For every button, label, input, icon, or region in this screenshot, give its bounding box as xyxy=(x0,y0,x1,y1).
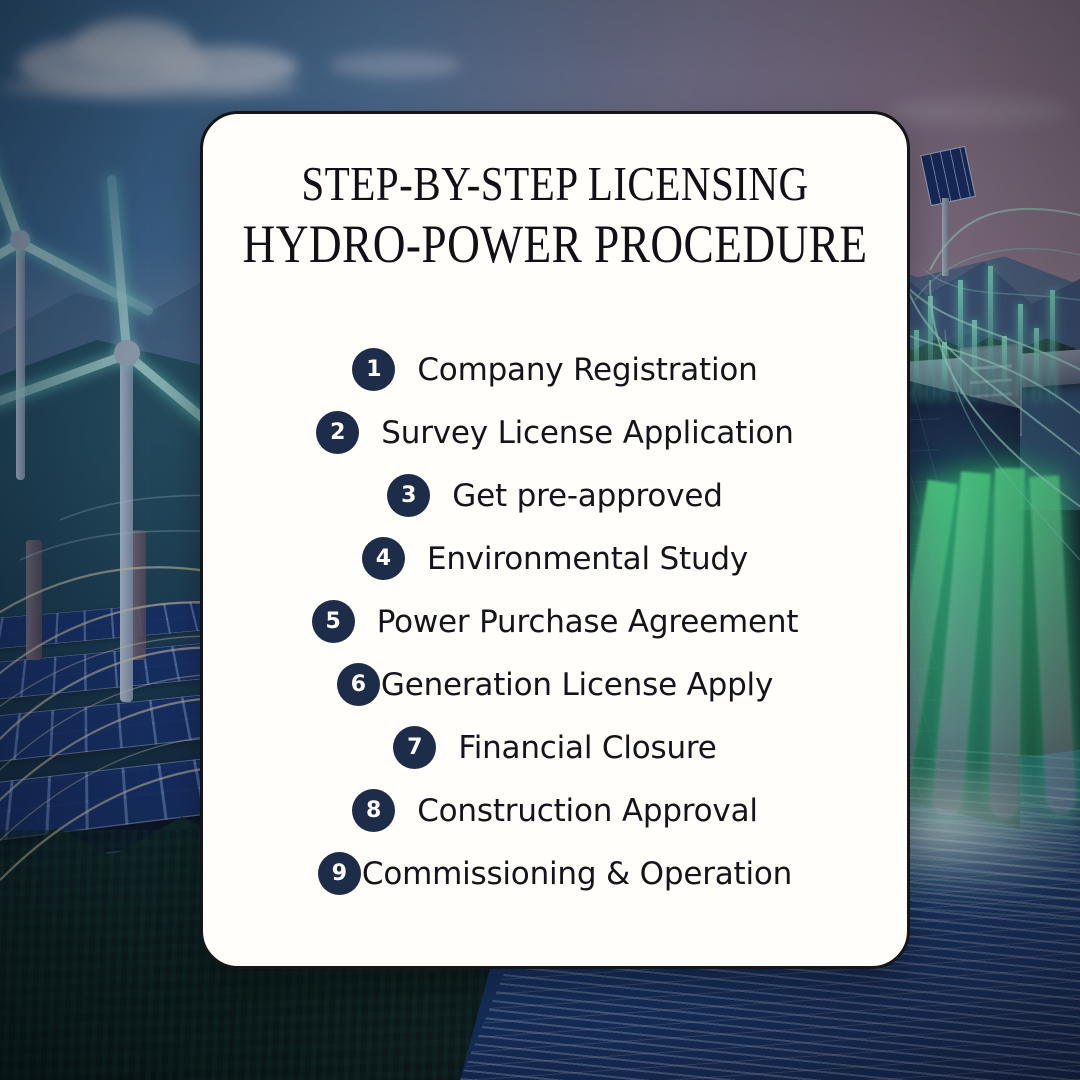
list-item[interactable]: 5 Power Purchase Agreement xyxy=(233,600,877,643)
title-line-2: HYDRO-POWER PROCEDURE xyxy=(243,216,868,274)
list-item[interactable]: 7 Financial Closure xyxy=(233,726,877,769)
step-label: Environmental Study xyxy=(427,541,748,577)
list-item[interactable]: 8 Construction Approval xyxy=(233,789,877,832)
list-item[interactable]: 4 Environmental Study xyxy=(233,537,877,580)
step-number-badge: 4 xyxy=(362,537,405,580)
list-item[interactable]: 2 Survey License Application xyxy=(233,411,877,454)
step-number-badge: 1 xyxy=(352,348,395,391)
step-label: Power Purchase Agreement xyxy=(377,604,799,640)
step-label: Survey License Application xyxy=(381,415,793,451)
step-number-badge: 2 xyxy=(316,411,359,454)
step-label: Generation License Apply xyxy=(381,667,773,703)
list-item[interactable]: 1 Company Registration xyxy=(233,348,877,391)
step-label: Get pre-approved xyxy=(452,478,722,514)
step-label: Construction Approval xyxy=(417,793,758,829)
list-item[interactable]: 9 Commissioning & Operation xyxy=(233,852,877,895)
content-card: STEP-BY-STEP LICENSING HYDRO-POWER PROCE… xyxy=(200,111,910,969)
step-number-badge: 6 xyxy=(337,663,380,706)
poster: STEP-BY-STEP LICENSING HYDRO-POWER PROCE… xyxy=(0,0,1080,1080)
steps-list: 1 Company Registration 2 Survey License … xyxy=(233,348,877,895)
step-number-badge: 5 xyxy=(312,600,355,643)
step-label: Company Registration xyxy=(417,352,757,388)
step-label: Financial Closure xyxy=(458,730,716,766)
title-line-1: STEP-BY-STEP LICENSING xyxy=(243,158,868,210)
step-number-badge: 7 xyxy=(393,726,436,769)
step-number-badge: 3 xyxy=(387,474,430,517)
step-label: Commissioning & Operation xyxy=(362,856,792,892)
step-number-badge: 8 xyxy=(352,789,395,832)
list-item[interactable]: 6 Generation License Apply xyxy=(233,663,877,706)
step-number-badge: 9 xyxy=(318,852,361,895)
list-item[interactable]: 3 Get pre-approved xyxy=(233,474,877,517)
page-title: STEP-BY-STEP LICENSING HYDRO-POWER PROCE… xyxy=(183,158,927,274)
